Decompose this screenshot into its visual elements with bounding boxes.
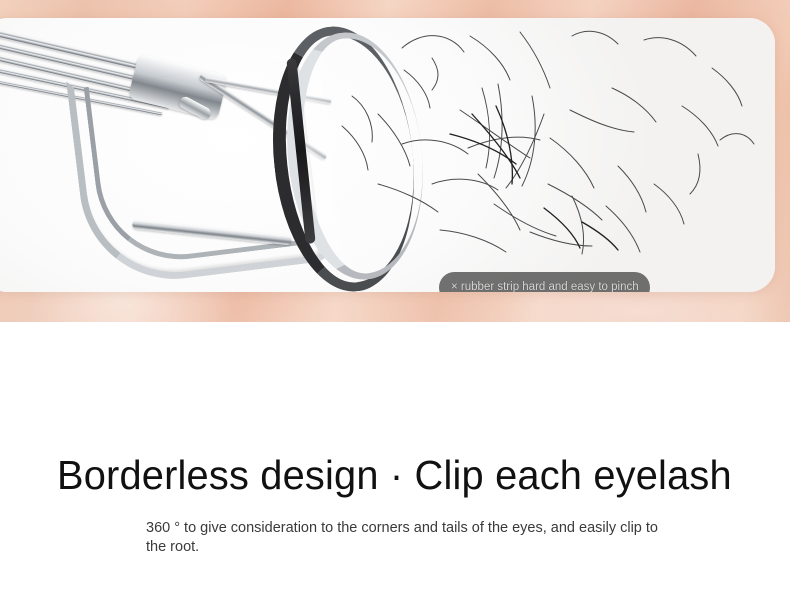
eyelash-curler-product: [0, 18, 442, 292]
page-subtitle: 360 ° to give consideration to the corne…: [146, 519, 661, 556]
product-photo-block: × rubber strip hard and easy to pinch of…: [0, 0, 790, 322]
product-detail-page: { "photo": { "alt_description": "Metal e…: [0, 0, 790, 607]
page-title: Borderless design · Clip each eyelash: [57, 453, 732, 497]
product-photo-card: × rubber strip hard and easy to pinch of…: [0, 18, 775, 292]
tooltip-close-icon[interactable]: ×: [451, 281, 458, 292]
image-annotation-tooltip[interactable]: × rubber strip hard and easy to pinch of…: [439, 272, 650, 292]
marketing-copy-section: Borderless design · Clip each eyelash 36…: [0, 322, 790, 607]
tooltip-text: rubber strip hard and easy to pinch off: [451, 281, 639, 292]
